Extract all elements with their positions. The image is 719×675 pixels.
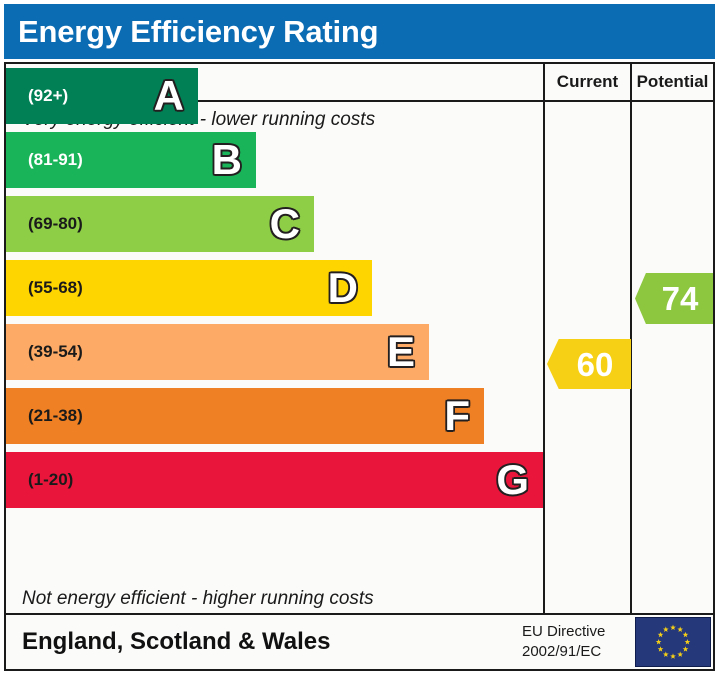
directive-line-1: EU Directive: [522, 623, 605, 640]
band-bar-b: (81-91)B: [6, 132, 256, 188]
current-column-divider: [543, 64, 545, 615]
eu-flag-icon: [635, 617, 711, 667]
band-bar-f: (21-38)F: [6, 388, 484, 444]
current-rating-arrow: 60: [547, 339, 631, 389]
column-header-current: Current: [545, 64, 630, 100]
band-bar-e: (39-54)E: [6, 324, 429, 380]
band-range-g: (1-20): [28, 470, 73, 490]
directive-line-2: 2002/91/EC: [522, 643, 601, 660]
band-letter-f: F: [444, 395, 470, 437]
band-bar-c: (69-80)C: [6, 196, 314, 252]
band-range-a: (92+): [28, 86, 68, 106]
energy-efficiency-rating-chart: Energy Efficiency Rating Current Potenti…: [0, 0, 719, 675]
band-range-f: (21-38): [28, 406, 83, 426]
band-letter-d: D: [328, 267, 358, 309]
band-letter-e: E: [387, 331, 415, 373]
band-range-c: (69-80): [28, 214, 83, 234]
column-header-potential: Potential: [632, 64, 713, 100]
band-range-e: (39-54): [28, 342, 83, 362]
band-range-d: (55-68): [28, 278, 83, 298]
current-rating-value: 60: [565, 348, 614, 381]
band-letter-c: C: [270, 203, 300, 245]
potential-rating-arrow: 74: [635, 273, 713, 324]
band-bar-a: (92+)A: [6, 68, 198, 124]
band-letter-g: G: [496, 459, 529, 501]
page-title: Energy Efficiency Rating: [18, 14, 378, 50]
band-letter-a: A: [154, 75, 184, 117]
band-bars: (92+)A(81-91)B(69-80)C(55-68)D(39-54)E(2…: [6, 64, 543, 613]
footer-directive-label: EU Directive 2002/91/EC: [522, 622, 605, 662]
chart-title-bar: Energy Efficiency Rating: [4, 4, 715, 59]
chart-frame: Current Potential Very energy efficient …: [4, 62, 715, 671]
band-bar-d: (55-68)D: [6, 260, 372, 316]
chart-footer: England, Scotland & Wales EU Directive 2…: [6, 615, 713, 669]
footer-region-label: England, Scotland & Wales: [22, 628, 330, 656]
band-range-b: (81-91): [28, 150, 83, 170]
band-bar-g: (1-20)G: [6, 452, 543, 508]
band-letter-b: B: [212, 139, 242, 181]
potential-rating-value: 74: [650, 282, 699, 315]
